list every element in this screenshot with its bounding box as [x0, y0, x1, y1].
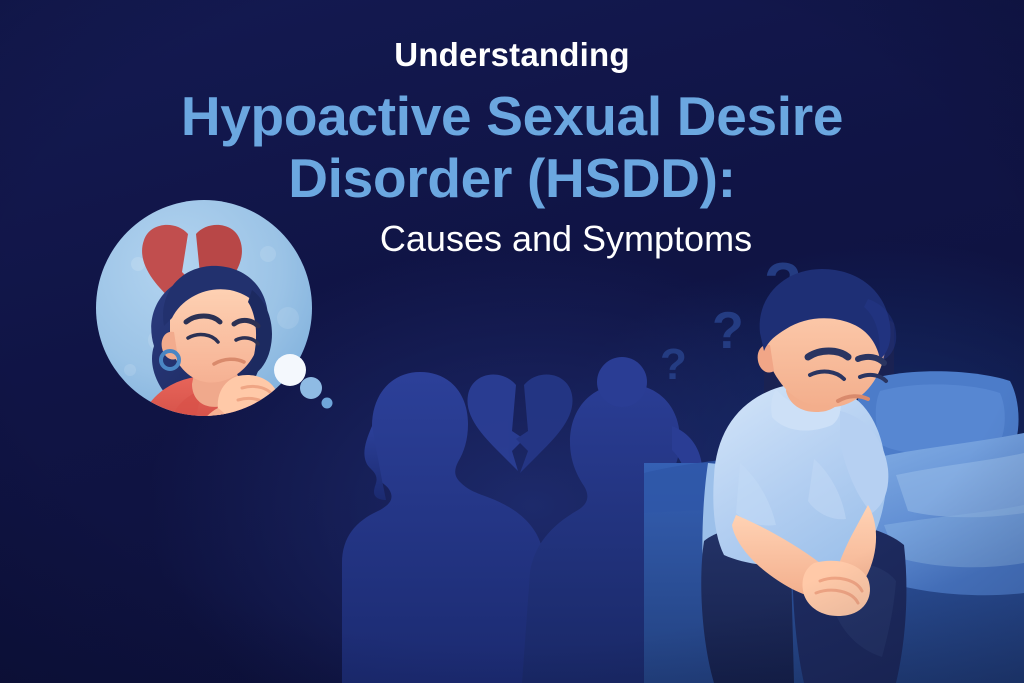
broken-heart-silhouette — [467, 375, 572, 473]
page-title: Hypoactive Sexual Desire Disorder (HSDD)… — [0, 85, 1024, 210]
silhouette-left — [342, 372, 552, 683]
sad-man-on-bed-illustration — [644, 263, 1024, 683]
hsdd-banner: ? ? ? — [0, 0, 1024, 683]
woman-hand — [218, 375, 279, 433]
title-line-1: Hypoactive Sexual Desire — [181, 85, 843, 147]
eyebrow-text: Understanding — [0, 38, 1024, 73]
thought-dot-small — [322, 398, 333, 409]
thought-bubble-illustration — [92, 198, 342, 448]
thought-dot-medium — [300, 377, 322, 399]
thought-dot-large — [274, 354, 306, 386]
